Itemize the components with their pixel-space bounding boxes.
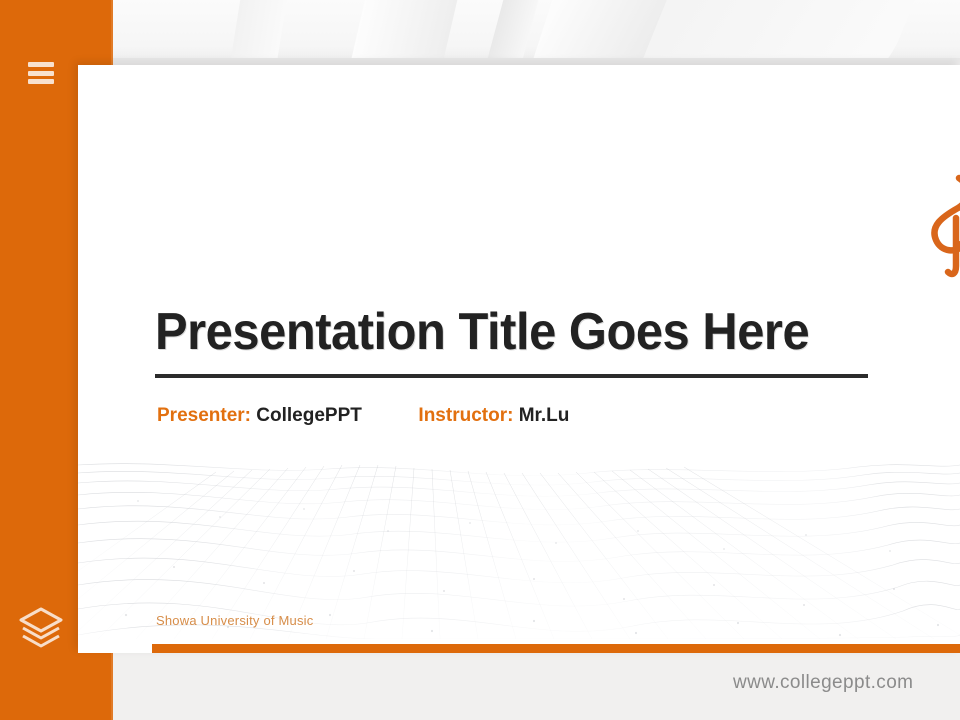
layers-stack-icon[interactable] [16, 602, 66, 652]
credits-line: Presenter: CollegePPT Instructor: Mr.Lu [157, 405, 569, 427]
hamburger-bar-3 [28, 79, 54, 84]
ribbon-shape-5 [637, 0, 921, 66]
hamburger-bar-2 [28, 71, 54, 76]
music-clef-logo [918, 170, 960, 280]
card-bottom-accent-bar [152, 644, 960, 653]
ribbon-shape-1 [221, 0, 296, 66]
hamburger-menu-icon[interactable] [28, 62, 54, 84]
top-decorative-band [0, 0, 960, 66]
organization-name: Showa University of Music [156, 613, 313, 628]
instructor-label: Instructor: [418, 405, 513, 426]
page-title: Presentation Title Goes Here [155, 305, 827, 360]
ribbon-shape-2 [338, 0, 468, 66]
presenter-name: CollegePPT [256, 405, 362, 426]
title-underline-rule [155, 374, 868, 378]
title-block: Presentation Title Goes Here [155, 305, 870, 378]
instructor-name: Mr.Lu [519, 405, 570, 426]
wireframe-mesh-graphic [78, 439, 960, 639]
hamburger-bar-1 [28, 62, 54, 67]
presentation-slide: Presentation Title Goes Here Presenter: … [0, 0, 960, 720]
presenter-label: Presenter: [157, 405, 251, 426]
site-watermark: www.collegeppt.com [733, 672, 913, 694]
